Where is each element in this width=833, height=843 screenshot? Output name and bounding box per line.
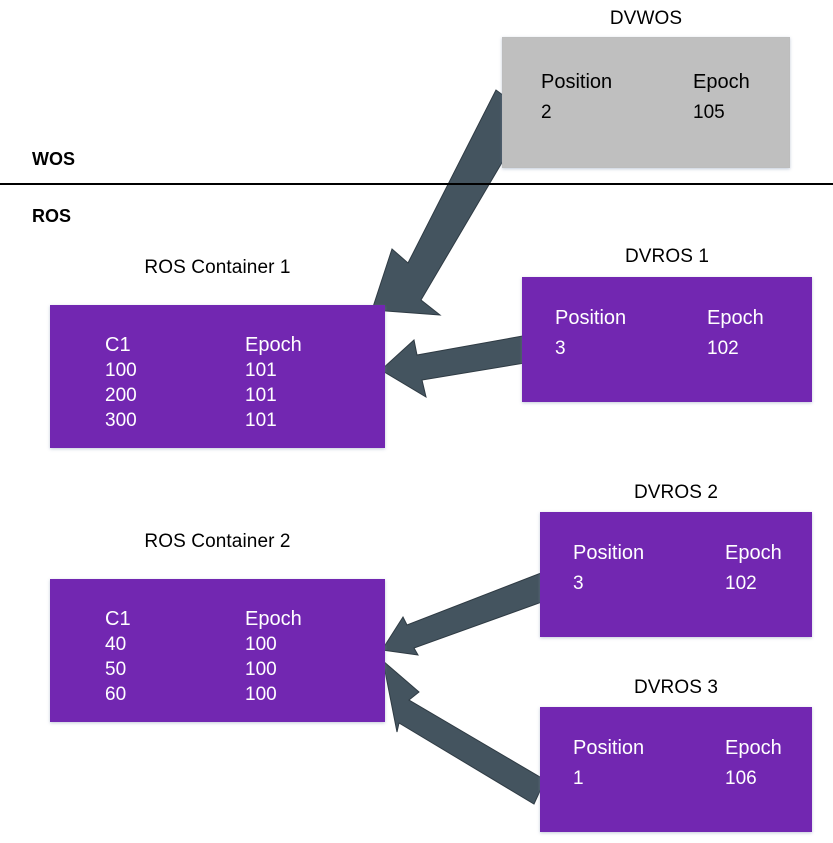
dvros-1-fields: Position 3 Epoch 102 — [555, 302, 833, 364]
ros-container-1-box[interactable]: C1 Epoch 100 101 200 101 300 101 — [50, 305, 385, 448]
dvros-1-field-epoch-value: 102 — [707, 334, 833, 364]
dvros-3-fields: Position 1 Epoch 106 — [573, 732, 833, 794]
dvros-2-field-epoch-label: Epoch — [725, 537, 833, 569]
dvros-3-field-position-label: Position — [573, 732, 725, 764]
dvwos-caption: DVWOS — [502, 8, 790, 30]
region-label-wos: WOS — [32, 149, 75, 170]
table-row: 40 100 — [105, 632, 365, 657]
ros-container-2-box[interactable]: C1 Epoch 40 100 50 100 60 100 — [50, 579, 385, 722]
ros-container-2-r1-c1: 50 — [105, 657, 245, 682]
dvwos-field-position-value: 2 — [541, 98, 693, 128]
dvros-3-field-position-value: 1 — [573, 764, 725, 794]
dvros-1-field-position-label: Position — [555, 302, 707, 334]
dvros-3-field-position: Position 1 — [573, 732, 725, 794]
dvros-2-field-epoch: Epoch 102 — [725, 537, 833, 599]
dvwos-fields: Position 2 Epoch 105 — [541, 66, 833, 128]
dvros-3-caption: DVROS 3 — [540, 677, 812, 699]
ros-container-2-r2-c1: 60 — [105, 682, 245, 707]
dvwos-field-epoch: Epoch 105 — [693, 66, 833, 128]
table-row: 60 100 — [105, 682, 365, 707]
dvros-2-box[interactable]: Position 3 Epoch 102 — [540, 512, 812, 637]
ros-container-1-caption: ROS Container 1 — [50, 257, 385, 279]
dvros-1-field-position-value: 3 — [555, 334, 707, 364]
ros-container-1-r1-epoch: 101 — [245, 383, 365, 408]
table-row: 300 101 — [105, 408, 365, 433]
dvros-1-caption: DVROS 1 — [522, 246, 812, 268]
table-row: 100 101 — [105, 358, 365, 383]
dvros-1-field-epoch-label: Epoch — [707, 302, 833, 334]
dvros-2-field-position: Position 3 — [573, 537, 725, 599]
dvros-1-box[interactable]: Position 3 Epoch 102 — [522, 277, 812, 402]
dvwos-field-epoch-label: Epoch — [693, 66, 833, 98]
diagram-canvas: WOS ROS DVWOS Position 2 Epoch 105 ROS C… — [0, 0, 833, 843]
ros-container-2-r2-epoch: 100 — [245, 682, 365, 707]
ros-container-1-r0-c1: 100 — [105, 358, 245, 383]
dvros-2-fields: Position 3 Epoch 102 — [573, 537, 833, 599]
table-row: 50 100 — [105, 657, 365, 682]
dvros-2-caption: DVROS 2 — [540, 482, 812, 504]
ros-container-1-r0-epoch: 101 — [245, 358, 365, 383]
ros-container-1-col-c1: C1 — [105, 333, 245, 358]
ros-container-1-table: C1 Epoch 100 101 200 101 300 101 — [105, 333, 365, 433]
ros-container-2-r0-epoch: 100 — [245, 632, 365, 657]
ros-container-2-col-c1: C1 — [105, 607, 245, 632]
ros-container-1-r2-c1: 300 — [105, 408, 245, 433]
table-header-row: C1 Epoch — [105, 607, 365, 632]
dvros-2-field-position-value: 3 — [573, 569, 725, 599]
region-label-ros: ROS — [32, 206, 71, 227]
dvwos-field-position: Position 2 — [541, 66, 693, 128]
dvros-1-field-position: Position 3 — [555, 302, 707, 364]
dvros-3-box[interactable]: Position 1 Epoch 106 — [540, 707, 812, 832]
ros-container-2-caption: ROS Container 2 — [50, 531, 385, 553]
ros-container-2-r1-epoch: 100 — [245, 657, 365, 682]
dvros-2-field-position-label: Position — [573, 537, 725, 569]
ros-container-1-col-epoch: Epoch — [245, 333, 365, 358]
ros-container-1-r2-epoch: 101 — [245, 408, 365, 433]
arrow-dvros-3-to-ros-container-2 — [383, 661, 545, 804]
arrow-dvros-1-to-ros-container-1 — [381, 334, 534, 397]
dvros-3-field-epoch-label: Epoch — [725, 732, 833, 764]
dvwos-box[interactable]: Position 2 Epoch 105 — [502, 37, 790, 168]
ros-container-2-col-epoch: Epoch — [245, 607, 365, 632]
dvwos-field-position-label: Position — [541, 66, 693, 98]
wos-ros-divider — [0, 183, 833, 185]
table-row: 200 101 — [105, 383, 365, 408]
ros-container-2-r0-c1: 40 — [105, 632, 245, 657]
dvros-2-field-epoch-value: 102 — [725, 569, 833, 599]
dvros-3-field-epoch: Epoch 106 — [725, 732, 833, 794]
dvros-1-field-epoch: Epoch 102 — [707, 302, 833, 364]
arrow-dvros-2-to-ros-container-2 — [382, 573, 553, 655]
table-header-row: C1 Epoch — [105, 333, 365, 358]
ros-container-2-table: C1 Epoch 40 100 50 100 60 100 — [105, 607, 365, 707]
ros-container-1-r1-c1: 200 — [105, 383, 245, 408]
dvros-3-field-epoch-value: 106 — [725, 764, 833, 794]
dvwos-field-epoch-value: 105 — [693, 98, 833, 128]
